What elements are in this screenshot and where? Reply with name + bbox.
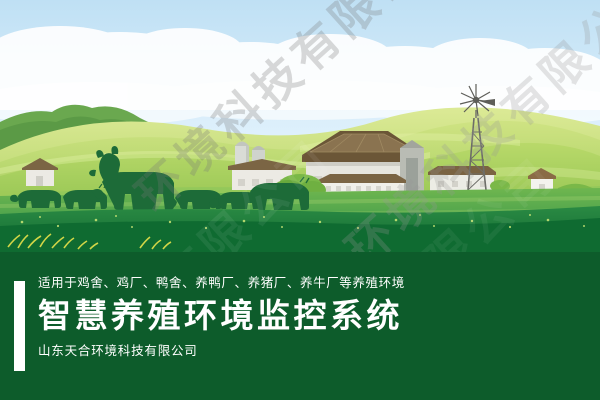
banner-title: 智慧养殖环境监控系统 [38, 294, 578, 338]
foreground-shade [0, 218, 600, 252]
farm-illustration [0, 0, 600, 252]
accent-bar [14, 281, 25, 371]
title-banner: 适用于鸡舍、鸡厂、鸭舍、养鸭厂、养猪厂、养牛厂等养殖环境 智慧养殖环境监控系统 … [0, 252, 600, 400]
company-name: 山东天合环境科技有限公司 [38, 342, 578, 360]
poster: 环境科技有限公司 环境科技有限公司 环境科技有限公司 环境科技有限公司 适用于鸡… [0, 0, 600, 400]
banner-text-block: 适用于鸡舍、鸡厂、鸭舍、养鸭厂、养猪厂、养牛厂等养殖环境 智慧养殖环境监控系统 … [38, 274, 578, 360]
banner-subtitle: 适用于鸡舍、鸡厂、鸭舍、养鸭厂、养猪厂、养牛厂等养殖环境 [38, 274, 578, 292]
